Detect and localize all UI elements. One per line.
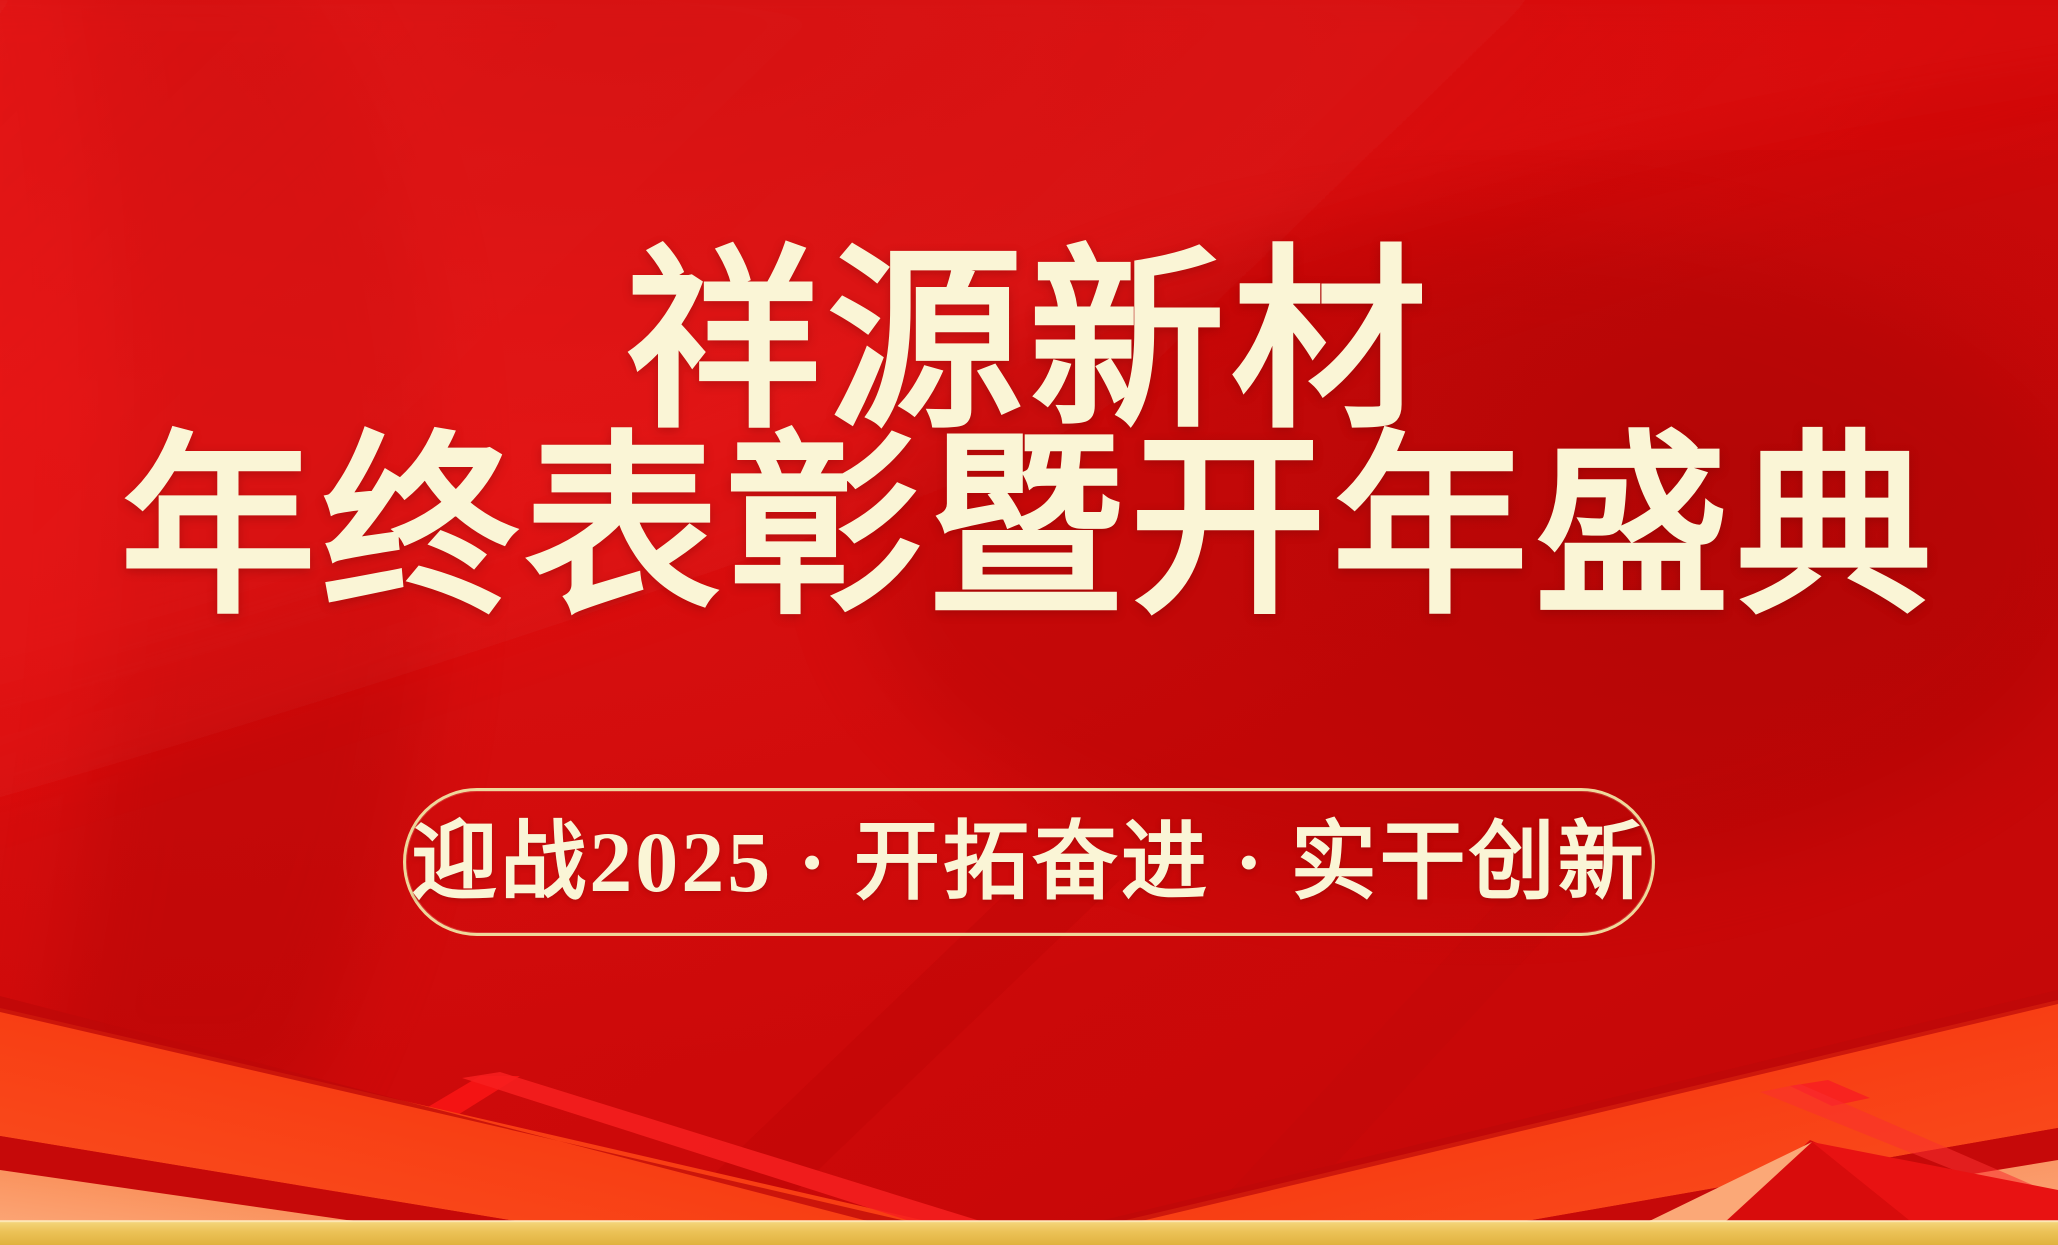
subtitle-pill: 迎战2025 · 开拓奋进 · 实干创新 [403, 788, 1655, 936]
gold-bar-highlight [0, 1220, 2058, 1222]
event-banner: 祥源新材 年终表彰暨开年盛典 迎战2025 · 开拓奋进 · 实干创新 [0, 0, 2058, 1245]
page-title-line-1: 祥源新材 [0, 246, 2058, 442]
gold-accent-bar [0, 1221, 2058, 1245]
banner-content: 祥源新材 年终表彰暨开年盛典 迎战2025 · 开拓奋进 · 实干创新 [0, 0, 2058, 1245]
subtitle-text: 迎战2025 · 开拓奋进 · 实干创新 [411, 819, 1646, 905]
page-title-line-2: 年终表彰暨开年盛典 [0, 432, 2058, 628]
